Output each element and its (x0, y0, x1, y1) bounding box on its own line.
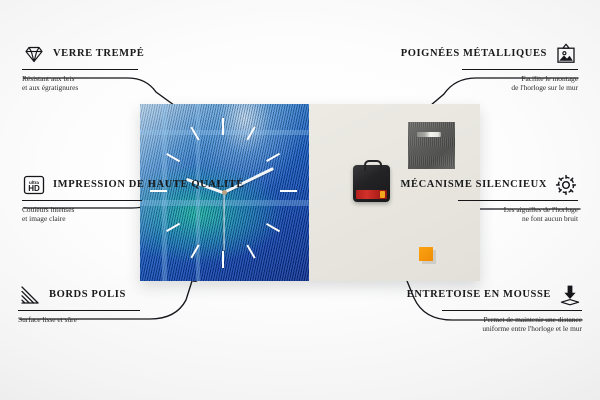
clock-back-panel (309, 104, 480, 281)
divider (18, 310, 140, 311)
diamond-icon (22, 42, 46, 66)
feature-entretoise-en-mousse[interactable]: ENTRETOISE EN MOUSSE Permet de maintenir… (442, 283, 582, 333)
feature-title: MÉCANISME SILENCIEUX (401, 179, 547, 192)
feature-title: VERRE TREMPÉ (53, 48, 144, 61)
clock-tick (280, 190, 297, 192)
feature-header: POIGNÉES MÉTALLIQUES (462, 42, 578, 66)
foam-spacer (419, 247, 433, 261)
feature-mecanisme-silencieux[interactable]: MÉCANISME SILENCIEUX Les aiguilles de l'… (458, 173, 578, 223)
feature-verre-trempe[interactable]: VERRE TREMPÉ Résistant aux bris et aux é… (22, 42, 138, 92)
arrow-down-stack-icon (558, 283, 582, 307)
divider (22, 69, 138, 70)
clock-tick (266, 153, 280, 163)
clock-tick (246, 244, 256, 258)
divider (462, 69, 578, 70)
clock-tick (166, 223, 180, 233)
pattern-gridline (196, 104, 200, 281)
clock-face (140, 104, 309, 281)
mechanism-hook (364, 160, 382, 171)
gear-icon (554, 173, 578, 197)
svg-text:HD: HD (28, 184, 40, 193)
pattern-gridline (162, 104, 167, 281)
hanger-slot (417, 132, 441, 137)
feature-header: VERRE TREMPÉ (22, 42, 138, 66)
feature-description: Permet de maintenir une distance uniform… (442, 315, 582, 333)
clock-tick (266, 223, 280, 233)
feature-poignees-metalliques[interactable]: POIGNÉES MÉTALLIQUES Facilite le montage… (462, 42, 578, 92)
clock-tick (166, 153, 180, 163)
clock-tick (222, 251, 224, 268)
feature-description: Surface lisse et sûre (18, 315, 140, 324)
feature-header: MÉCANISME SILENCIEUX (458, 173, 578, 197)
battery-terminal (380, 191, 385, 198)
feature-description: Facilite le montage de l'horloge sur le … (462, 74, 578, 92)
clock-mechanism (353, 165, 390, 202)
feature-description: Couleurs intenses et image claire (22, 205, 142, 223)
metal-hanger-plate (408, 122, 455, 169)
feature-header: ENTRETOISE EN MOUSSE (442, 283, 582, 307)
feature-bords-polis[interactable]: BORDS POLIS Surface lisse et sûre (18, 283, 140, 324)
second-hand (223, 193, 224, 251)
feature-title: POIGNÉES MÉTALLIQUES (401, 48, 547, 61)
battery (356, 190, 387, 199)
feature-header: ultra HD IMPRESSION DE HAUTE QUALITÉ (22, 173, 142, 197)
feature-title: ENTRETOISE EN MOUSSE (407, 289, 551, 302)
feature-impression-haute-qualite[interactable]: ultra HD IMPRESSION DE HAUTE QUALITÉ Cou… (22, 173, 142, 223)
feature-title: BORDS POLIS (49, 289, 126, 302)
infographic-canvas: VERRE TREMPÉ Résistant aux bris et aux é… (0, 0, 600, 400)
polished-edge-icon (18, 283, 42, 307)
feature-description: Résistant aux bris et aux égratignures (22, 74, 138, 92)
divider (442, 310, 582, 311)
clock-tick (222, 118, 224, 135)
feature-title: IMPRESSION DE HAUTE QUALITÉ (53, 179, 244, 192)
product-image (140, 104, 480, 281)
feature-header: BORDS POLIS (18, 283, 140, 307)
feature-description: Les aiguilles de l'horloge ne font aucun… (458, 205, 578, 223)
picture-frame-icon (554, 42, 578, 66)
divider (458, 200, 578, 201)
divider (22, 200, 142, 201)
ultra-hd-icon: ultra HD (22, 173, 46, 197)
